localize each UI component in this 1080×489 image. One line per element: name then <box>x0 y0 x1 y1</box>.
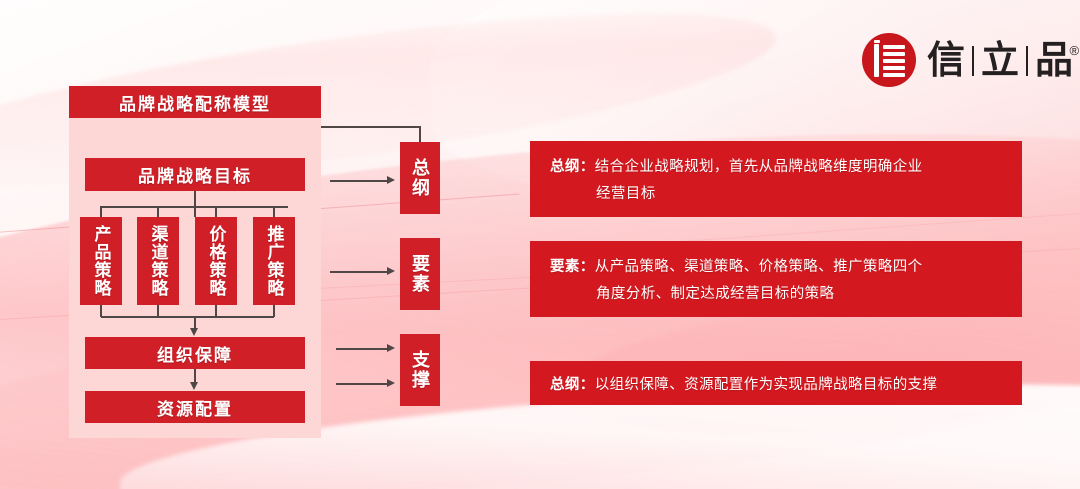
description-lead-support: 总纲： <box>550 377 595 393</box>
xinlipin-circle-logo-icon <box>862 33 916 87</box>
logo-char-1: 信 <box>925 42 967 80</box>
brand-wordmark: 信 立 品 ® <box>925 42 1075 80</box>
logo-char-2: 立 <box>979 42 1021 80</box>
description-line2-elements: 角度分析、制定达成经营目标的策略 <box>550 281 1004 308</box>
slide-canvas: 信 立 品 ® 品牌战略配称模型 品牌战略目标 产品策略 渠道策略 价格策略 推… <box>0 0 1080 489</box>
stage-box-elements: 要素 <box>400 238 440 310</box>
logo-stroke-dot <box>874 40 880 43</box>
connector-strategy-drop-4 <box>273 206 275 217</box>
connector-merge-bus <box>101 316 274 318</box>
description-lead-outline: 总纲： <box>550 159 595 175</box>
logo-stroke-3 <box>883 59 905 63</box>
connector-strategy-drop-3 <box>215 206 217 217</box>
model-title-box: 品牌战略配称模型 <box>69 86 321 118</box>
brand-logo: 信 立 品 ® <box>862 27 1028 93</box>
arrow-to-stage-support-1 <box>387 344 395 352</box>
logo-stroke-5 <box>883 73 905 77</box>
connector-resource-drop <box>194 369 196 383</box>
description-line1-outline: 结合企业战略规划，首先从品牌战略维度明确企业 <box>595 159 923 175</box>
logo-separator-2 <box>1026 46 1028 76</box>
support-box-resource: 资源配置 <box>85 391 305 423</box>
arrow-to-stage-support-2 <box>387 379 395 387</box>
strategy-box-promotion: 推广策略 <box>253 217 295 305</box>
logo-stroke-stem <box>874 44 879 77</box>
arrow-to-organization <box>190 328 198 336</box>
logo-stroke-4 <box>883 66 905 70</box>
strategy-box-product: 产品策略 <box>80 217 122 305</box>
connector-strategy-drop-2 <box>157 206 159 217</box>
description-line2-outline: 经营目标 <box>550 181 1004 208</box>
logo-separator-1 <box>972 46 974 76</box>
connector-arrow-line-elements <box>330 271 388 273</box>
connector-title-bracket-horizontal <box>321 126 420 128</box>
registered-trademark-icon: ® <box>1069 44 1079 57</box>
description-line1-support: 以组织保障、资源配置作为实现品牌战略目标的支撑 <box>595 377 938 393</box>
stage-box-support: 支撑 <box>400 334 440 406</box>
support-box-organization: 组织保障 <box>85 337 305 369</box>
connector-arrow-line-support-2 <box>336 383 388 385</box>
connector-strategy-drop-1 <box>100 206 102 217</box>
arrow-to-resource <box>190 382 198 390</box>
arrow-to-stage-outline <box>387 176 395 184</box>
stage-box-outline: 总纲 <box>400 142 440 214</box>
strategy-box-channel: 渠道策略 <box>137 217 179 305</box>
description-panel-support: 总纲：以组织保障、资源配置作为实现品牌战略目标的支撑 <box>530 361 1022 405</box>
connector-arrow-line-outline <box>330 180 388 182</box>
connector-arrow-line-support-1 <box>336 348 388 350</box>
connector-goal-drop <box>194 191 196 217</box>
strategy-box-price: 价格策略 <box>195 217 237 305</box>
description-panel-elements: 要素：从产品策略、渠道策略、价格策略、推广策略四个 角度分析、制定达成经营目标的… <box>530 241 1022 317</box>
description-lead-elements: 要素： <box>550 259 595 275</box>
description-line1-elements: 从产品策略、渠道策略、价格策略、推广策略四个 <box>595 259 923 275</box>
brand-strategy-goal-box: 品牌战略目标 <box>85 158 305 191</box>
connector-title-bracket-vertical <box>419 126 421 143</box>
arrow-to-stage-elements <box>387 267 395 275</box>
connector-strategy-bus <box>101 206 288 208</box>
logo-stroke-2 <box>883 52 905 56</box>
description-panel-outline: 总纲：结合企业战略规划，首先从品牌战略维度明确企业 经营目标 <box>530 141 1022 217</box>
logo-stroke-1 <box>883 45 905 49</box>
